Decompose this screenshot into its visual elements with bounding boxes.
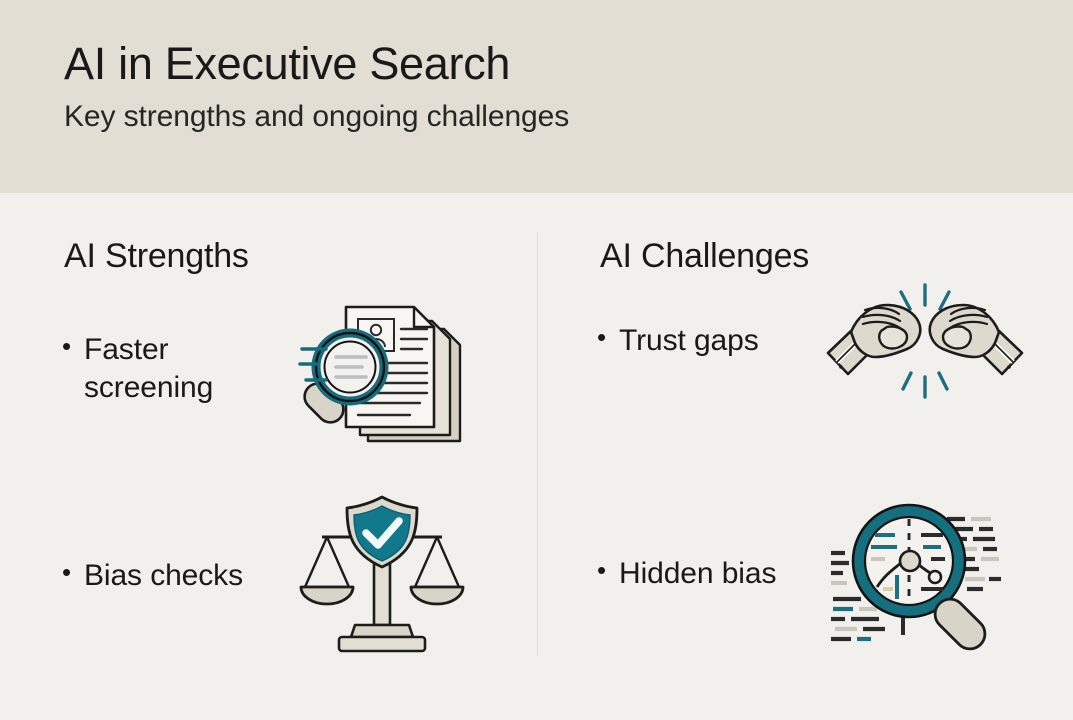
page-title: AI in Executive Search [64, 40, 1073, 87]
column-heading-strengths: AI Strengths [64, 237, 249, 276]
list-item-faster-screening[interactable]: Faster screening [62, 285, 502, 453]
column-ai-strengths: AI Strengths Faster screening [0, 193, 537, 720]
comparison-board: AI Strengths Faster screening [0, 193, 1073, 720]
column-heading-challenges: AI Challenges [600, 237, 809, 276]
header-band: AI in Executive Search Key strengths and… [0, 0, 1073, 193]
list-item-hidden-bias[interactable]: Hidden bias [597, 495, 1047, 653]
column-ai-challenges: AI Challenges Trust gaps [537, 193, 1073, 720]
list-item-label: Faster screening [62, 331, 274, 408]
broken-handshake-icon [825, 285, 1025, 397]
list-item-label: Hidden bias [597, 555, 776, 593]
list-item-label: Bias checks [62, 557, 243, 595]
scales-shield-icon [297, 495, 467, 657]
magnifier-data-icon [827, 495, 1017, 653]
resume-magnifier-icon [300, 285, 470, 453]
page-subtitle: Key strengths and ongoing challenges [64, 100, 1073, 134]
list-item-label: Trust gaps [597, 322, 759, 360]
list-item-bias-checks[interactable]: Bias checks [62, 495, 502, 657]
list-item-trust-gaps[interactable]: Trust gaps [597, 285, 1047, 397]
